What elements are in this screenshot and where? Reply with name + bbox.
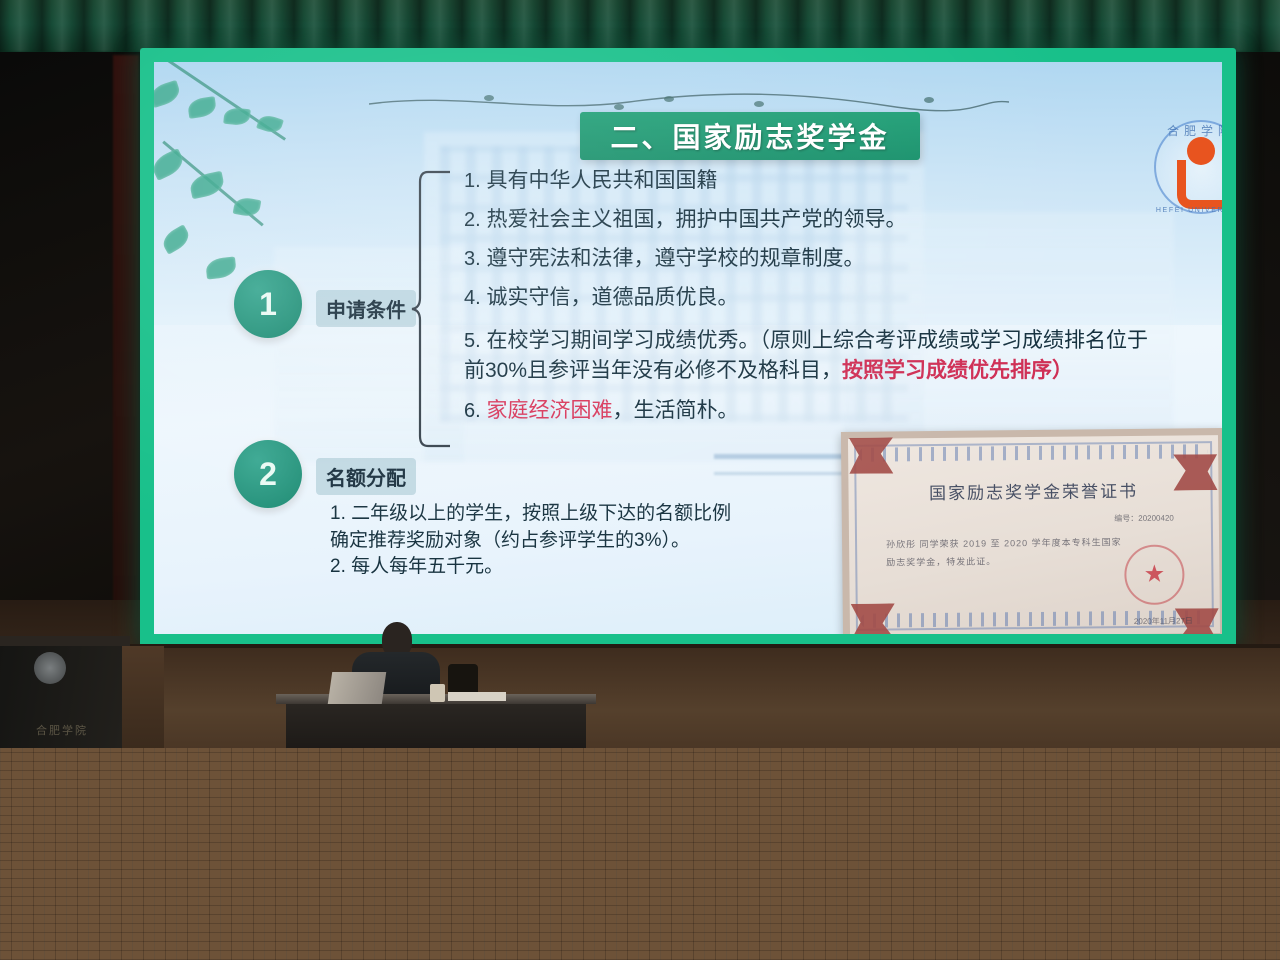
floor-band bbox=[0, 748, 1280, 960]
official-seal-icon: ★ bbox=[1124, 544, 1185, 605]
quota-allocation-text: 1. 二年级以上的学生，按照上级下达的名额比例 确定推荐奖励对象（约占参评学生的… bbox=[330, 502, 850, 582]
quota-line: 1. 二年级以上的学生，按照上级下达的名额比例 bbox=[330, 502, 850, 527]
podium: 合肥学院 bbox=[0, 640, 122, 752]
stage-front bbox=[0, 648, 1280, 752]
list-item: 1. 具有中华人民共和国国籍 bbox=[464, 170, 1164, 191]
presenter-table bbox=[286, 700, 586, 752]
logo-name-en: HEFEI UNIVERSITY bbox=[1154, 207, 1222, 214]
section-tag-quota-allocation: 名额分配 bbox=[316, 458, 416, 495]
projection-screen-frame: 二、国家励志奖学金 合肥学院 HEFEI UNIVERSITY 1 申请条件 bbox=[140, 48, 1236, 648]
laptop bbox=[328, 672, 386, 704]
slide-title-banner: 二、国家励志奖学金 bbox=[580, 112, 920, 160]
cup bbox=[430, 684, 445, 702]
lecture-hall-photo: 二、国家励志奖学金 合肥学院 HEFEI UNIVERSITY 1 申请条件 bbox=[0, 0, 1280, 960]
list-item-text: 诚实守信，道德品质优良。 bbox=[487, 286, 739, 309]
quota-line: 确定推荐奖励对象（约占参评学生的3%）。 bbox=[330, 529, 850, 554]
list-item-text: ，生活简朴。 bbox=[613, 399, 739, 422]
podium-top bbox=[0, 636, 130, 646]
list-item: 4. 诚实守信，道德品质优良。 bbox=[464, 287, 1164, 308]
list-item: 3. 遵守宪法和法律，遵守学校的规章制度。 bbox=[464, 248, 1164, 269]
presentation-slide: 二、国家励志奖学金 合肥学院 HEFEI UNIVERSITY 1 申请条件 bbox=[154, 62, 1222, 634]
logo-book-shape bbox=[1177, 160, 1222, 209]
certificate-number: 编号：20200420 bbox=[1114, 513, 1174, 525]
certificate-photo: 国家励志奖学金荣誉证书 编号：20200420 孙欣彤 同学荣获 2019 至 … bbox=[841, 428, 1222, 634]
application-conditions-list: 1. 具有中华人民共和国国籍 2. 热爱社会主义祖国，拥护中国共产党的领导。 3… bbox=[464, 170, 1164, 434]
section-number-1: 1 bbox=[234, 270, 302, 338]
section-tag-application-conditions: 申请条件 bbox=[316, 290, 416, 327]
wall-accent-strip bbox=[113, 55, 139, 695]
page-title: 二、国家励志奖学金 bbox=[610, 116, 889, 156]
university-logo: 合肥学院 HEFEI UNIVERSITY bbox=[1154, 120, 1222, 214]
list-item-text: 具有中华人民共和国国籍 bbox=[487, 169, 718, 192]
list-item: 2. 热爱社会主义祖国，拥护中国共产党的领导。 bbox=[464, 209, 1164, 230]
list-item-highlight: 按照学习成绩优先排序） bbox=[842, 359, 1073, 382]
list-item-highlight: 家庭经济困难 bbox=[487, 399, 613, 422]
list-item: 5. 在校学习期间学习成绩优秀。（原则上综合考评成绩或学习成绩排名位于前30%且… bbox=[464, 326, 1164, 387]
list-item: 6. 家庭经济困难，生活简朴。 bbox=[464, 400, 1164, 421]
certificate-title: 国家励志奖学金荣誉证书 bbox=[841, 476, 1222, 505]
list-item-text: 热爱社会主义祖国，拥护中国共产党的领导。 bbox=[487, 208, 907, 231]
podium-label: 合肥学院 bbox=[12, 722, 112, 738]
podium-side-panel bbox=[122, 646, 164, 752]
brace-bracket bbox=[410, 170, 454, 448]
certificate-date: 2020年11月27日 bbox=[1134, 615, 1193, 627]
logo-name-cn: 合肥学院 bbox=[1154, 122, 1222, 139]
quota-line: 2. 每人每年五千元。 bbox=[330, 555, 850, 580]
papers bbox=[448, 692, 506, 701]
list-item-text: 遵守宪法和法律，遵守学校的规章制度。 bbox=[487, 247, 865, 270]
section-number-2: 2 bbox=[234, 440, 302, 508]
podium-emblem-icon bbox=[34, 652, 66, 684]
